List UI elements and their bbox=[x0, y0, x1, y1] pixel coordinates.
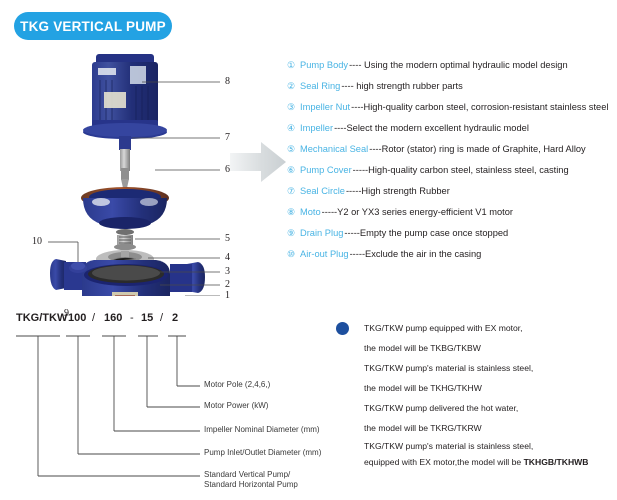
legend-part-name: Moto bbox=[300, 207, 321, 217]
callout-number-2: 2 bbox=[225, 279, 230, 290]
callout-number-4: 4 bbox=[225, 252, 230, 263]
exploded-pump-diagram: 8 7 6 5 4 3 2 1 10 9 bbox=[20, 46, 260, 296]
page-root: TKG VERTICAL PUMP bbox=[0, 0, 617, 500]
legend-description: ----High-quality carbon steel, corrosion… bbox=[351, 102, 608, 112]
legend-item: ⑤ Mechanical Seal ----Rotor (stator) rin… bbox=[287, 144, 617, 165]
legend-description: -----High strength Rubber bbox=[346, 186, 450, 196]
legend-part-name: Pump Cover bbox=[300, 165, 352, 175]
code-token-power: 15 bbox=[141, 312, 153, 324]
code-label-standard-vert: Standard Vertical Pump/ bbox=[204, 470, 290, 479]
code-token-inlet: 100 bbox=[68, 312, 86, 324]
note-line: the model will be TKRG/TKRW bbox=[364, 418, 617, 438]
callout-number-10: 10 bbox=[32, 236, 42, 247]
note-line: TKG/TKW pump equipped with EX motor, bbox=[364, 318, 617, 338]
legend-number: ⑤ bbox=[287, 144, 300, 155]
legend-number: ③ bbox=[287, 102, 300, 113]
code-token-series: TKG/TKW bbox=[16, 312, 67, 324]
note-lines: TKG/TKW pump equipped with EX motor, the… bbox=[364, 318, 617, 470]
legend-number: ⑦ bbox=[287, 186, 300, 197]
callout-number-8: 8 bbox=[225, 76, 230, 87]
part-pump-cover bbox=[81, 187, 169, 229]
note-model-code: TKHGB/TKHWB bbox=[524, 457, 589, 467]
legend-number: ⑧ bbox=[287, 207, 300, 218]
note-line: TKG/TKW pump delivered the hot water, bbox=[364, 398, 617, 418]
legend-part-name: Impeller Nut bbox=[300, 102, 350, 112]
legend-item: ① Pump Body ---- Using the modern optima… bbox=[287, 60, 617, 81]
part-pump-body bbox=[50, 259, 205, 296]
code-label-inlet-dia: Pump Inlet/Outlet Diameter (mm) bbox=[204, 448, 321, 457]
legend-item: ③ Impeller Nut ----High-quality carbon s… bbox=[287, 102, 617, 123]
code-label-impeller-dia: Impeller Nominal Diameter (mm) bbox=[204, 425, 320, 434]
legend-item: ⑩ Air-out Plug -----Exclude the air in t… bbox=[287, 249, 617, 270]
legend-part-name: Mechanical Seal bbox=[300, 144, 368, 154]
legend-number: ④ bbox=[287, 123, 300, 134]
page-title-banner: TKG VERTICAL PUMP bbox=[14, 12, 172, 40]
callout-number-3: 3 bbox=[225, 266, 230, 277]
legend-part-name: Drain Plug bbox=[300, 228, 343, 238]
legend-description: -----Empty the pump case once stopped bbox=[344, 228, 508, 238]
legend-item: ⑥ Pump Cover -----High-quality carbon st… bbox=[287, 165, 617, 186]
pump-illustration-svg bbox=[20, 46, 260, 296]
code-separator-1: / bbox=[92, 312, 95, 324]
note-line: TKG/TKW pump's material is stainless ste… bbox=[364, 438, 617, 454]
legend-part-name: Pump Body bbox=[300, 60, 348, 70]
legend-description: -----High-quality carbon steel, stainles… bbox=[353, 165, 569, 175]
legend-number: ② bbox=[287, 81, 300, 92]
code-separator-2: - bbox=[130, 312, 134, 324]
part-motor bbox=[83, 54, 167, 139]
code-label-motor-power: Motor Power (kW) bbox=[204, 401, 268, 410]
parts-legend: ① Pump Body ---- Using the modern optima… bbox=[287, 60, 617, 270]
callout-number-1: 1 bbox=[225, 290, 230, 301]
legend-item: ⑦ Seal Circle -----High strength Rubber bbox=[287, 186, 617, 207]
legend-part-name: Seal Ring bbox=[300, 81, 340, 91]
code-label-standard-horz: Standard Horizontal Pump bbox=[204, 480, 298, 489]
legend-part-name: Air-out Plug bbox=[300, 249, 349, 259]
legend-number: ① bbox=[287, 60, 300, 71]
legend-description: -----Y2 or YX3 series energy-efficient V… bbox=[322, 207, 513, 217]
legend-part-name: Impeller bbox=[300, 123, 333, 133]
note-line-with-model: equipped with EX motor,the model will be… bbox=[364, 454, 617, 470]
legend-description: -----Exclude the air in the casing bbox=[350, 249, 482, 259]
legend-description: ----Select the modern excellent hydrauli… bbox=[334, 123, 529, 133]
legend-item: ④ Impeller ----Select the modern excelle… bbox=[287, 123, 617, 144]
code-label-motor-pole: Motor Pole (2,4,6,) bbox=[204, 380, 270, 389]
legend-description: ---- Using the modern optimal hydraulic … bbox=[349, 60, 568, 70]
note-line: the model will be TKHG/TKHW bbox=[364, 378, 617, 398]
legend-part-name: Seal Circle bbox=[300, 186, 345, 196]
note-text: equipped with EX motor,the model will be bbox=[364, 457, 524, 467]
legend-item: ⑨ Drain Plug -----Empty the pump case on… bbox=[287, 228, 617, 249]
legend-item: ⑧ Moto -----Y2 or YX3 series energy-effi… bbox=[287, 207, 617, 228]
right-arrow-icon bbox=[228, 138, 288, 186]
legend-item: ② Seal Ring ---- high strength rubber pa… bbox=[287, 81, 617, 102]
legend-number: ⑩ bbox=[287, 249, 300, 260]
page-title: TKG VERTICAL PUMP bbox=[20, 19, 166, 34]
model-code-breakdown: TKG/TKW 100 / 160 - 15 / 2 bbox=[0, 312, 320, 497]
code-separator-3: / bbox=[160, 312, 163, 324]
legend-description: ---- high strength rubber parts bbox=[341, 81, 462, 91]
part-shaft-seal-circle bbox=[119, 136, 131, 188]
code-token-impeller: 160 bbox=[104, 312, 122, 324]
callout-number-5: 5 bbox=[225, 233, 230, 244]
bullet-dot-icon bbox=[336, 322, 349, 335]
note-line: TKG/TKW pump's material is stainless ste… bbox=[364, 358, 617, 378]
legend-number: ⑨ bbox=[287, 228, 300, 239]
legend-description: ----Rotor (stator) ring is made of Graph… bbox=[369, 144, 585, 154]
part-mechanical-seal bbox=[114, 229, 136, 250]
code-token-pole: 2 bbox=[172, 312, 178, 324]
note-line: the model will be TKBG/TKBW bbox=[364, 338, 617, 358]
legend-number: ⑥ bbox=[287, 165, 300, 176]
